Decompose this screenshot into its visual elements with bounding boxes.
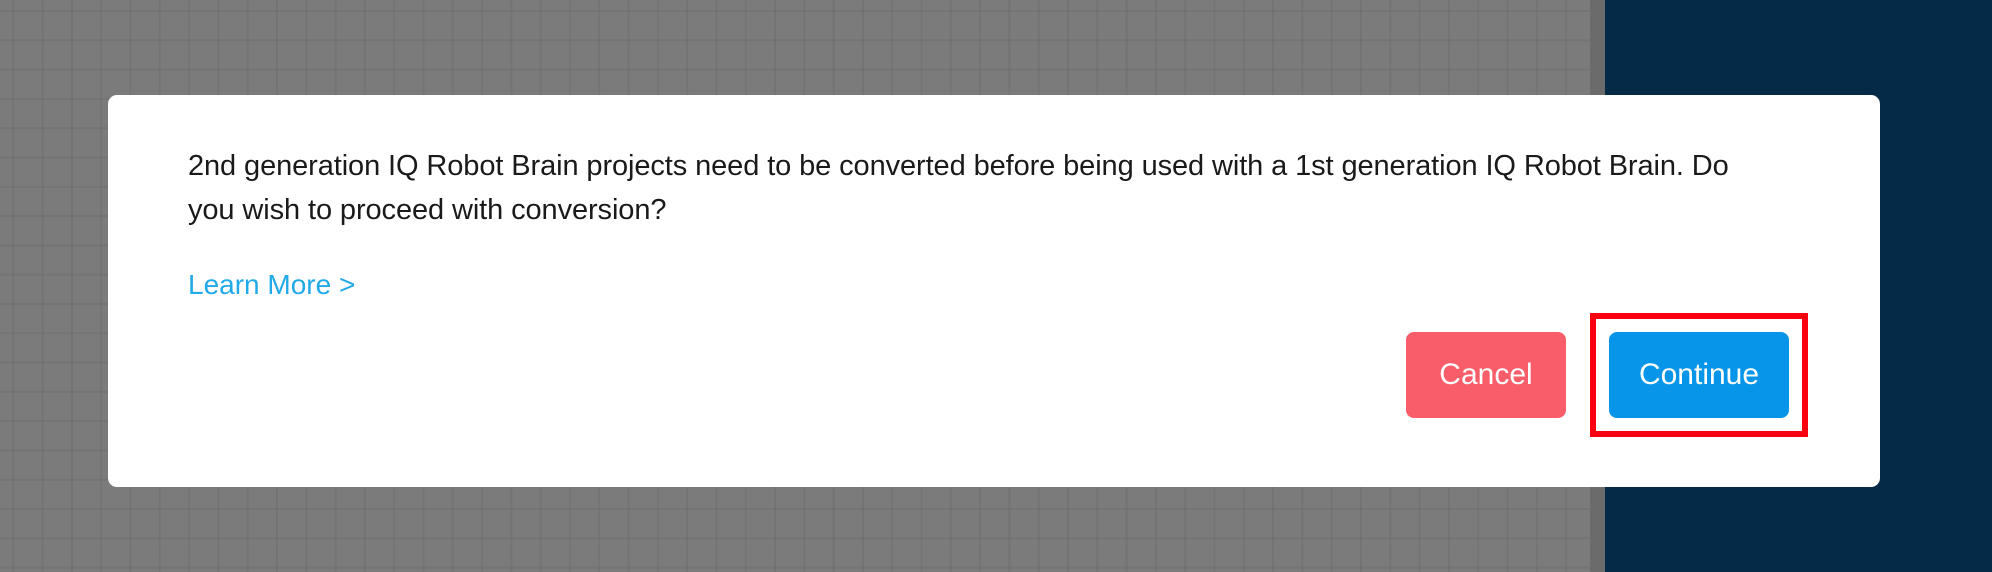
dialog-body: 2nd generation IQ Robot Brain projects n… [188,144,1808,302]
learn-more-row: Learn More > [188,268,1808,302]
dialog-actions: Cancel Continue [1406,313,1808,437]
cancel-button[interactable]: Cancel [1406,332,1566,418]
dialog-message: 2nd generation IQ Robot Brain projects n… [188,144,1768,232]
conversion-dialog: 2nd generation IQ Robot Brain projects n… [108,95,1880,487]
screen: 2nd generation IQ Robot Brain projects n… [0,0,1992,572]
continue-button-highlight: Continue [1590,313,1808,437]
continue-button[interactable]: Continue [1609,332,1789,418]
learn-more-link[interactable]: Learn More > [188,268,355,302]
